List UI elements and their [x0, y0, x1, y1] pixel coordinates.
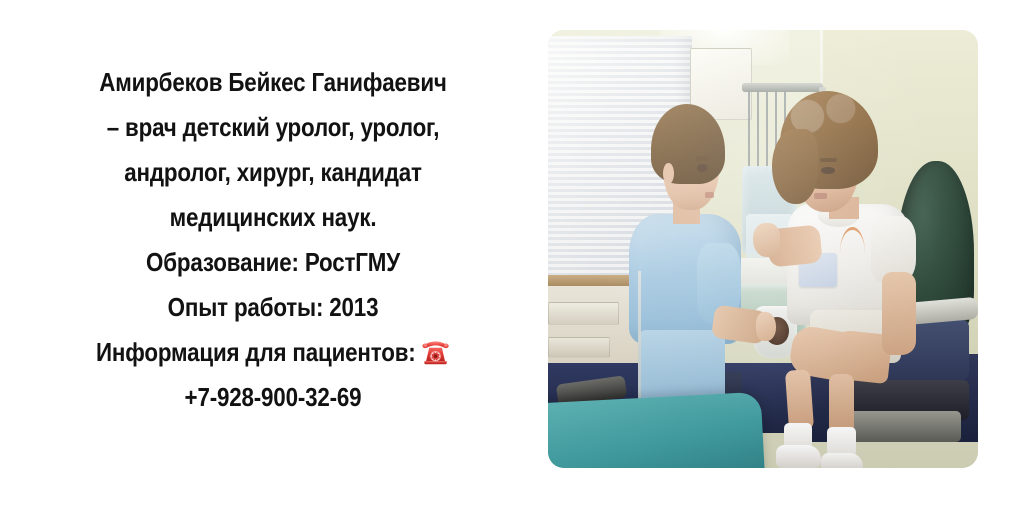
patient-shoe-left — [776, 445, 821, 468]
scrubs-eyebrow — [696, 156, 710, 161]
specialty-line-3: медицинских наук. — [88, 195, 458, 240]
patient-hair-side — [772, 129, 817, 204]
doctor-info-panel: Амирбеков Бейкес Ганифаевич – врач детск… — [58, 60, 488, 420]
clinic-photo-scene — [548, 30, 978, 468]
telephone-icon — [418, 335, 452, 369]
child-patient — [746, 91, 935, 468]
scrubs-mouth — [705, 192, 714, 198]
phone-number: +7-928-900-32-69 — [88, 375, 458, 420]
patient-info-label: Информация для пациентов: — [96, 337, 416, 367]
clinic-photo — [548, 30, 978, 468]
patient-eye — [821, 167, 834, 175]
specialty-line-1: – врач детский уролог, уролог, — [88, 105, 458, 150]
education-line: Образование: РостГМУ — [88, 240, 458, 285]
doctor-name: Амирбеков Бейкес Ганифаевич — [88, 60, 458, 105]
patient-shin-left — [785, 369, 814, 431]
cabinet-drawer-upper — [548, 302, 619, 326]
patient-mouth — [814, 193, 827, 199]
patient-eyebrow — [820, 158, 837, 163]
patient-hand-left — [753, 223, 779, 257]
patient-shoe-right — [821, 453, 863, 468]
patient-info-line: Информация для пациентов: — [88, 330, 458, 375]
patient-shin-right — [829, 374, 854, 434]
cabinet-drawer-lower — [548, 337, 610, 359]
scrubs-hair — [651, 104, 725, 184]
patient-arm-right — [882, 272, 916, 355]
specialty-line-2: андролог, хирург, кандидат — [88, 150, 458, 195]
teal-exam-table — [548, 392, 765, 468]
doctor-info-card: Амирбеков Бейкес Ганифаевич – врач детск… — [0, 0, 1030, 515]
experience-line: Опыт работы: 2013 — [88, 285, 458, 330]
